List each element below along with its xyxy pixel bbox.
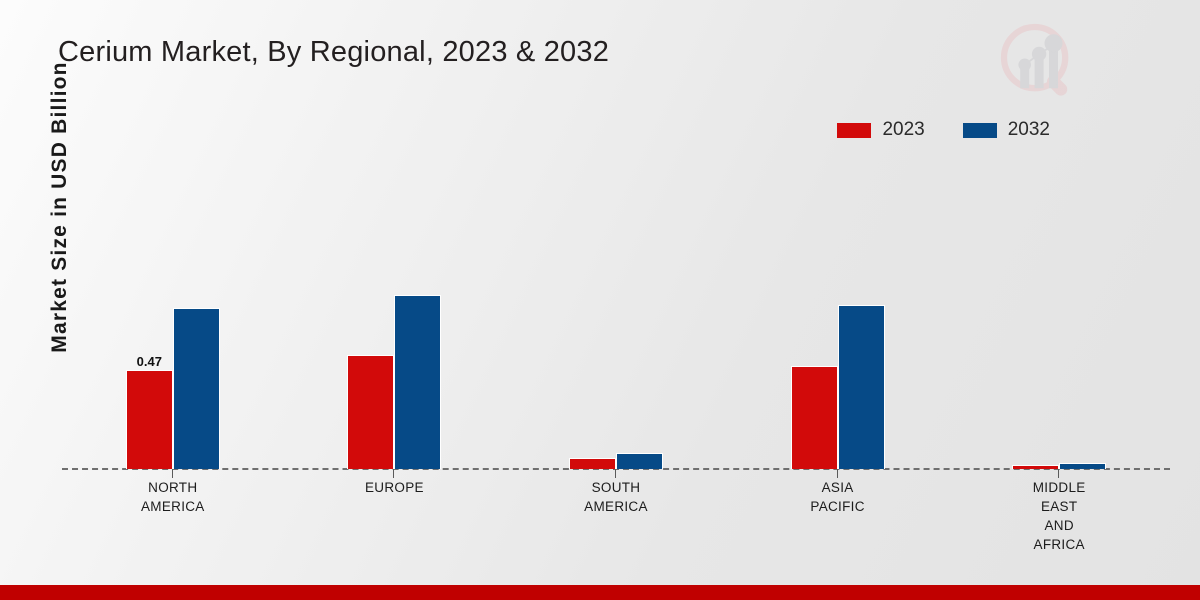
bar-middle-east-and-africa-2023[interactable] (1012, 465, 1059, 469)
x-label-line: SOUTH (505, 478, 727, 497)
bar-north-america-2032[interactable] (173, 308, 220, 469)
bar-group-north-america: 0.47 (62, 160, 284, 469)
chart-page: Cerium Market, By Regional, 2023 & 2032 … (0, 0, 1200, 600)
legend-swatch-2023 (837, 123, 871, 138)
x-label-europe: EUROPE (284, 478, 506, 554)
market-research-magnifier-logo (995, 18, 1085, 108)
legend-label-2023: 2023 (882, 119, 924, 141)
x-label-line: EUROPE (284, 478, 506, 497)
x-tick-asia-pacific (837, 469, 838, 478)
x-label-middle-east-and-africa: MIDDLE EAST AND AFRICA (948, 478, 1170, 554)
legend-item-2023[interactable]: 2023 (837, 119, 924, 141)
legend-label-2032: 2032 (1008, 119, 1050, 141)
x-tick-europe (393, 469, 394, 478)
page-title: Cerium Market, By Regional, 2023 & 2032 (58, 36, 609, 69)
bar-group-asia-pacific (727, 160, 949, 469)
x-label-line: MIDDLE (948, 478, 1170, 497)
x-label-asia-pacific: ASIA PACIFIC (727, 478, 949, 554)
bar-value-north-america-2023: 0.47 (126, 354, 173, 369)
bar-south-america-2032[interactable] (616, 453, 663, 469)
bar-middle-east-and-africa-2032[interactable] (1059, 463, 1106, 469)
chart-legend: 2023 2032 (837, 119, 1050, 141)
x-label-line: AND (948, 516, 1170, 535)
bar-group-europe (284, 160, 506, 469)
plot-area: 0.47 (62, 160, 1170, 470)
footer-bar (0, 585, 1200, 600)
bar-group-south-america (505, 160, 727, 469)
x-axis-labels: NORTH AMERICA EUROPE SOUTH AMERICA ASIA … (62, 478, 1170, 554)
legend-swatch-2032 (963, 123, 997, 138)
x-label-line: ASIA (727, 478, 949, 497)
x-label-line: AMERICA (62, 497, 284, 516)
bar-europe-2023[interactable] (347, 355, 394, 469)
x-label-line: PACIFIC (727, 497, 949, 516)
bar-south-america-2023[interactable] (569, 458, 616, 469)
bar-group-middle-east-and-africa (948, 160, 1170, 469)
x-label-line: NORTH (62, 478, 284, 497)
bar-north-america-2023[interactable] (126, 370, 173, 469)
x-label-line: AMERICA (505, 497, 727, 516)
bar-asia-pacific-2032[interactable] (838, 305, 885, 469)
legend-item-2032[interactable]: 2032 (963, 119, 1050, 141)
x-label-north-america: NORTH AMERICA (62, 478, 284, 554)
bar-asia-pacific-2023[interactable] (791, 366, 838, 469)
x-label-line: AFRICA (948, 535, 1170, 554)
bar-europe-2032[interactable] (394, 295, 441, 469)
x-label-south-america: SOUTH AMERICA (505, 478, 727, 554)
x-tick-south-america (615, 469, 616, 478)
bar-groups: 0.47 (62, 160, 1170, 469)
x-tick-middle-east-and-africa (1058, 469, 1059, 478)
x-label-line: EAST (948, 497, 1170, 516)
x-tick-north-america (172, 469, 173, 478)
